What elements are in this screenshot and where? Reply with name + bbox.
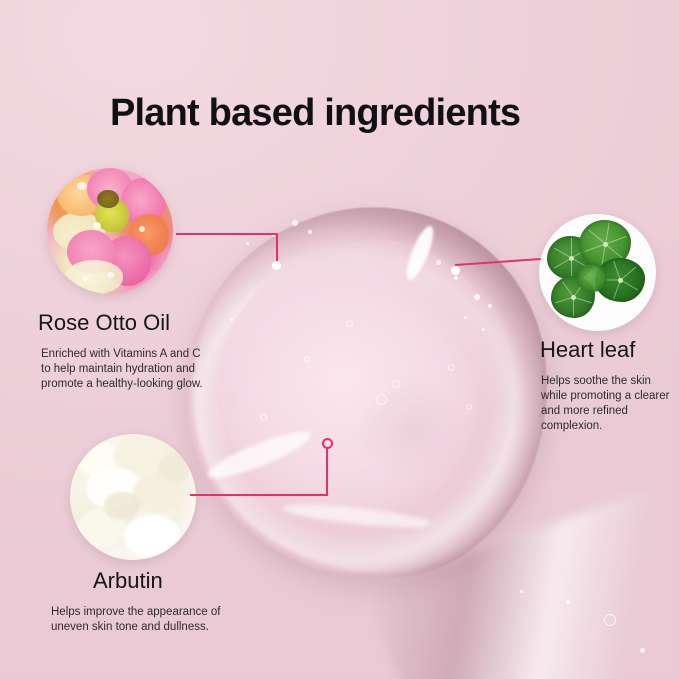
arbutin-description: Helps improve the appearance of uneven s…: [51, 605, 247, 635]
leaf-vein: [571, 238, 572, 258]
leaf-center: [571, 295, 576, 300]
oil-droplet: [77, 182, 87, 190]
bubble: [454, 276, 458, 280]
bubble: [308, 230, 312, 234]
rose-stamen-center: [97, 190, 119, 208]
gel-blob-swirl: [336, 358, 486, 498]
page-title: Plant based ingredients: [110, 92, 520, 135]
bubble: [230, 318, 233, 321]
powder-shadow: [104, 492, 140, 520]
rose-otto-oil-image: [47, 168, 173, 294]
rose-otto-oil-description: Enriched with Vitamins A and C to help m…: [41, 347, 209, 392]
leaf-center: [618, 278, 623, 283]
bubble-outline: [260, 414, 267, 421]
bubble: [292, 220, 298, 226]
product-infographic: Plant based ingredients Rose Otto Oil En…: [0, 0, 679, 679]
leaf-vein: [605, 244, 623, 259]
arbutin-image: [70, 434, 196, 560]
connector-line-rose-horizontal: [176, 233, 278, 235]
heart-leaf-title: Heart leaf: [540, 337, 635, 363]
connector-line-arbutin-vertical: [326, 448, 328, 496]
arbutin-title: Arbutin: [93, 568, 163, 594]
bubble: [520, 590, 523, 593]
bubble-outline: [346, 320, 353, 327]
leaf-vein: [605, 236, 626, 244]
leaf-vein: [573, 297, 592, 304]
connector-node-rose: [272, 261, 281, 270]
bubble-outline: [392, 380, 400, 388]
oil-droplet: [83, 276, 88, 281]
heart-leaf-image: [539, 214, 656, 331]
connector-node-heart-leaf: [451, 266, 460, 275]
leaf: [577, 264, 607, 292]
oil-pool: [65, 260, 123, 294]
bubble: [246, 242, 249, 245]
bubble-outline: [376, 394, 387, 405]
oil-droplet: [93, 222, 101, 229]
bubble-outline: [604, 614, 616, 626]
bubble: [640, 648, 645, 653]
leaf-vein: [573, 297, 574, 316]
heart-leaf-description: Helps soothe the skin while promoting a …: [541, 374, 677, 434]
bubble: [436, 260, 441, 265]
bubble-outline: [466, 404, 472, 410]
connector-line-arbutin-horizontal: [190, 494, 328, 496]
bubble: [482, 328, 485, 331]
bubble-outline: [448, 364, 455, 371]
bubble-outline: [304, 356, 310, 362]
connector-node-arbutin: [322, 438, 333, 449]
gel-blob: [186, 208, 548, 580]
leaf-center: [603, 242, 608, 247]
oil-droplet: [107, 272, 114, 278]
powder-shadow: [158, 454, 190, 482]
powder-clump: [124, 516, 180, 556]
bubble: [464, 316, 467, 319]
leaf-vein: [620, 280, 638, 291]
leaf-vein: [620, 267, 636, 281]
bubble: [566, 600, 570, 604]
rose-otto-oil-title: Rose Otto Oil: [38, 310, 170, 336]
leaf-vein: [613, 280, 621, 299]
bubble: [474, 294, 480, 300]
leaf-center: [569, 256, 574, 261]
bubble: [488, 304, 492, 308]
oil-droplet: [139, 226, 145, 232]
